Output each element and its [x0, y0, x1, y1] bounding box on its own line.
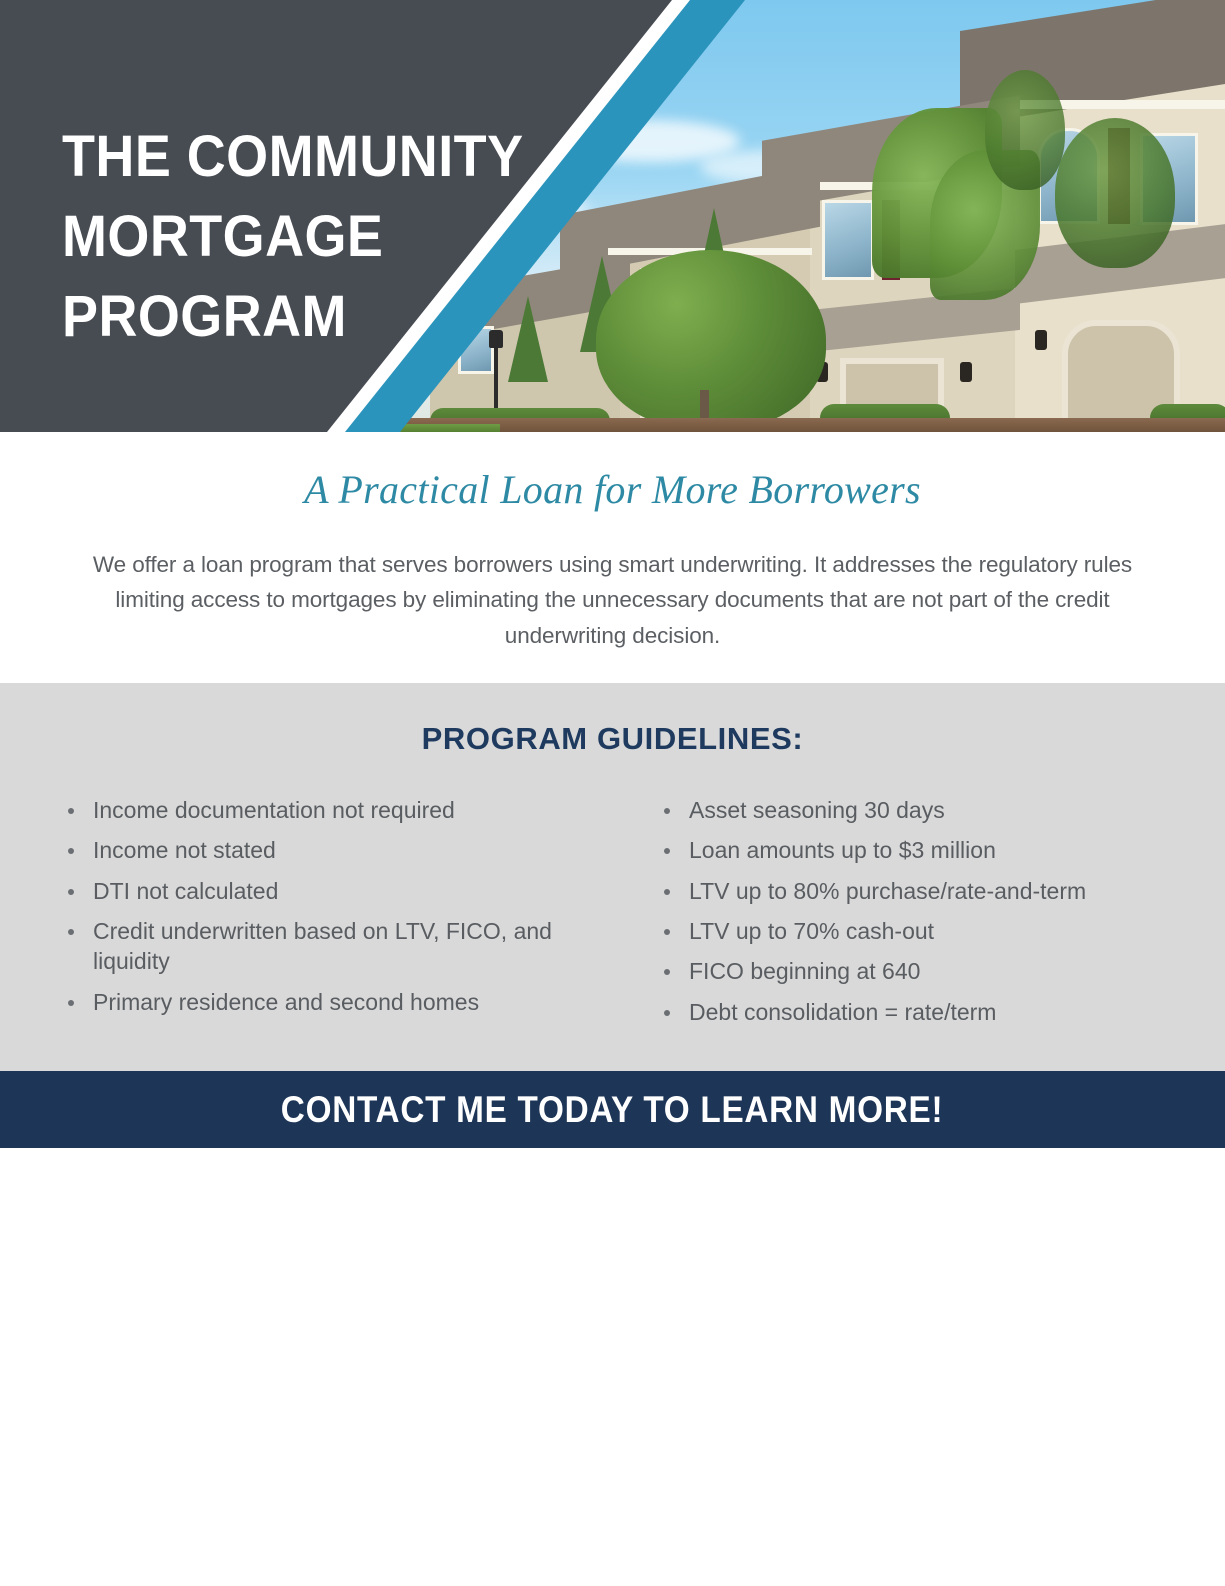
hero-banner: THE COMMUNITY MORTGAGE PROGRAM — [0, 0, 1225, 432]
cta-text: CONTACT ME TODAY TO LEARN MORE! — [281, 1089, 943, 1131]
guidelines-left-list: Income documentation not required Income… — [55, 795, 581, 1017]
guidelines-right-list: Asset seasoning 30 days Loan amounts up … — [651, 795, 1177, 1027]
vine-foliage — [1055, 118, 1175, 268]
list-item: Loan amounts up to $3 million — [651, 835, 1177, 865]
intro-body-text: We offer a loan program that serves borr… — [70, 547, 1155, 653]
window — [822, 200, 874, 280]
footer-whitespace — [0, 1148, 1225, 1586]
title-line-3: PROGRAM — [62, 277, 471, 357]
guidelines-heading: PROGRAM GUIDELINES: — [0, 721, 1225, 757]
list-item: Credit underwritten based on LTV, FICO, … — [55, 916, 581, 977]
vine-foliage — [985, 70, 1065, 190]
list-item: DTI not calculated — [55, 876, 581, 906]
list-item: Income documentation not required — [55, 795, 581, 825]
program-guidelines-section: PROGRAM GUIDELINES: Income documentation… — [0, 683, 1225, 1071]
list-item: Primary residence and second homes — [55, 987, 581, 1017]
title-line-1: THE COMMUNITY — [62, 117, 471, 197]
conifer-tree — [508, 296, 548, 382]
wall-sconce — [960, 362, 972, 382]
list-item: LTV up to 70% cash-out — [651, 916, 1177, 946]
list-item: Debt consolidation = rate/term — [651, 997, 1177, 1027]
guidelines-columns: Income documentation not required Income… — [0, 795, 1225, 1037]
list-item: LTV up to 80% purchase/rate-and-term — [651, 876, 1177, 906]
wall-sconce — [1035, 330, 1047, 350]
intro-heading: A Practical Loan for More Borrowers — [0, 466, 1225, 513]
list-item: Asset seasoning 30 days — [651, 795, 1177, 825]
title-line-2: MORTGAGE — [62, 197, 471, 277]
list-item: FICO beginning at 640 — [651, 956, 1177, 986]
intro-section: A Practical Loan for More Borrowers We o… — [0, 432, 1225, 683]
guidelines-left-column: Income documentation not required Income… — [55, 795, 581, 1037]
page-title: THE COMMUNITY MORTGAGE PROGRAM — [62, 117, 471, 357]
lamp-head — [489, 330, 503, 348]
list-item: Income not stated — [55, 835, 581, 865]
flyer-page: THE COMMUNITY MORTGAGE PROGRAM A Practic… — [0, 0, 1225, 1586]
contact-cta-banner[interactable]: CONTACT ME TODAY TO LEARN MORE! — [0, 1071, 1225, 1148]
guidelines-right-column: Asset seasoning 30 days Loan amounts up … — [631, 795, 1177, 1037]
shade-tree — [596, 250, 826, 430]
